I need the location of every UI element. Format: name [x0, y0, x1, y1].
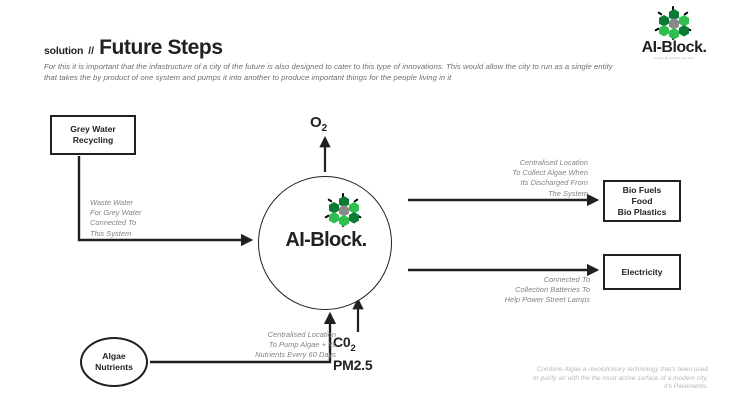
page-title: solution // Future Steps	[44, 36, 464, 60]
node-electricity-label: Electricity	[621, 267, 662, 278]
algae-hex-cluster-icon	[657, 8, 691, 40]
brand-wordmark: AI-Block.	[626, 41, 722, 55]
node-algae-nutrients[interactable]: Algae Nutrients	[80, 337, 148, 387]
annotation-collect-algae: Centralised Location To Collect Algae Wh…	[478, 158, 588, 199]
brand-logo: AI-Block. it learn air with like you wan…	[626, 8, 722, 64]
hub-circle-ai-block[interactable]: AI-Block.	[258, 176, 392, 310]
title-separator: //	[88, 45, 94, 57]
node-grey-water-label: Grey Water Recycling	[70, 124, 116, 146]
label-oxygen-output: O2	[310, 114, 327, 134]
annotation-collection-batteries: Connected To Collection Batteries To Hel…	[460, 275, 590, 306]
brand-tagline: it learn air with like you want	[626, 56, 722, 60]
hub-wordmark: AI-Block.	[259, 229, 393, 252]
node-grey-water-recycling[interactable]: Grey Water Recycling	[50, 115, 136, 155]
node-electricity[interactable]: Electricity	[603, 254, 681, 290]
footer-note: Combine Algae a revolutionary technology…	[530, 366, 708, 392]
label-o2-text: O	[310, 114, 321, 131]
slide-canvas: solution // Future Steps For this it is …	[0, 0, 730, 411]
title-main: Future Steps	[99, 36, 223, 60]
annotation-algae-pump: Centralised Location To Pump Algae + Its…	[232, 330, 336, 361]
annotation-waste-water: Waste Water For Grey Water Connected To …	[90, 198, 142, 239]
node-bio-fuels-label: Bio Fuels Food Bio Plastics	[618, 185, 667, 218]
label-o2-subscript: 2	[321, 123, 326, 134]
title-kicker: solution	[44, 45, 83, 57]
node-algae-label: Algae Nutrients	[95, 351, 133, 373]
label-pm25-text: PM2.5	[333, 357, 372, 374]
label-co2-subscript: 2	[351, 343, 356, 354]
label-co2-pm-input: C02 PM2.5	[333, 334, 372, 374]
algae-hex-cluster-icon	[327, 195, 361, 227]
page-subtitle: For this it is important that the infast…	[44, 61, 624, 83]
node-bio-fuels-food-bio-plastics[interactable]: Bio Fuels Food Bio Plastics	[603, 180, 681, 222]
